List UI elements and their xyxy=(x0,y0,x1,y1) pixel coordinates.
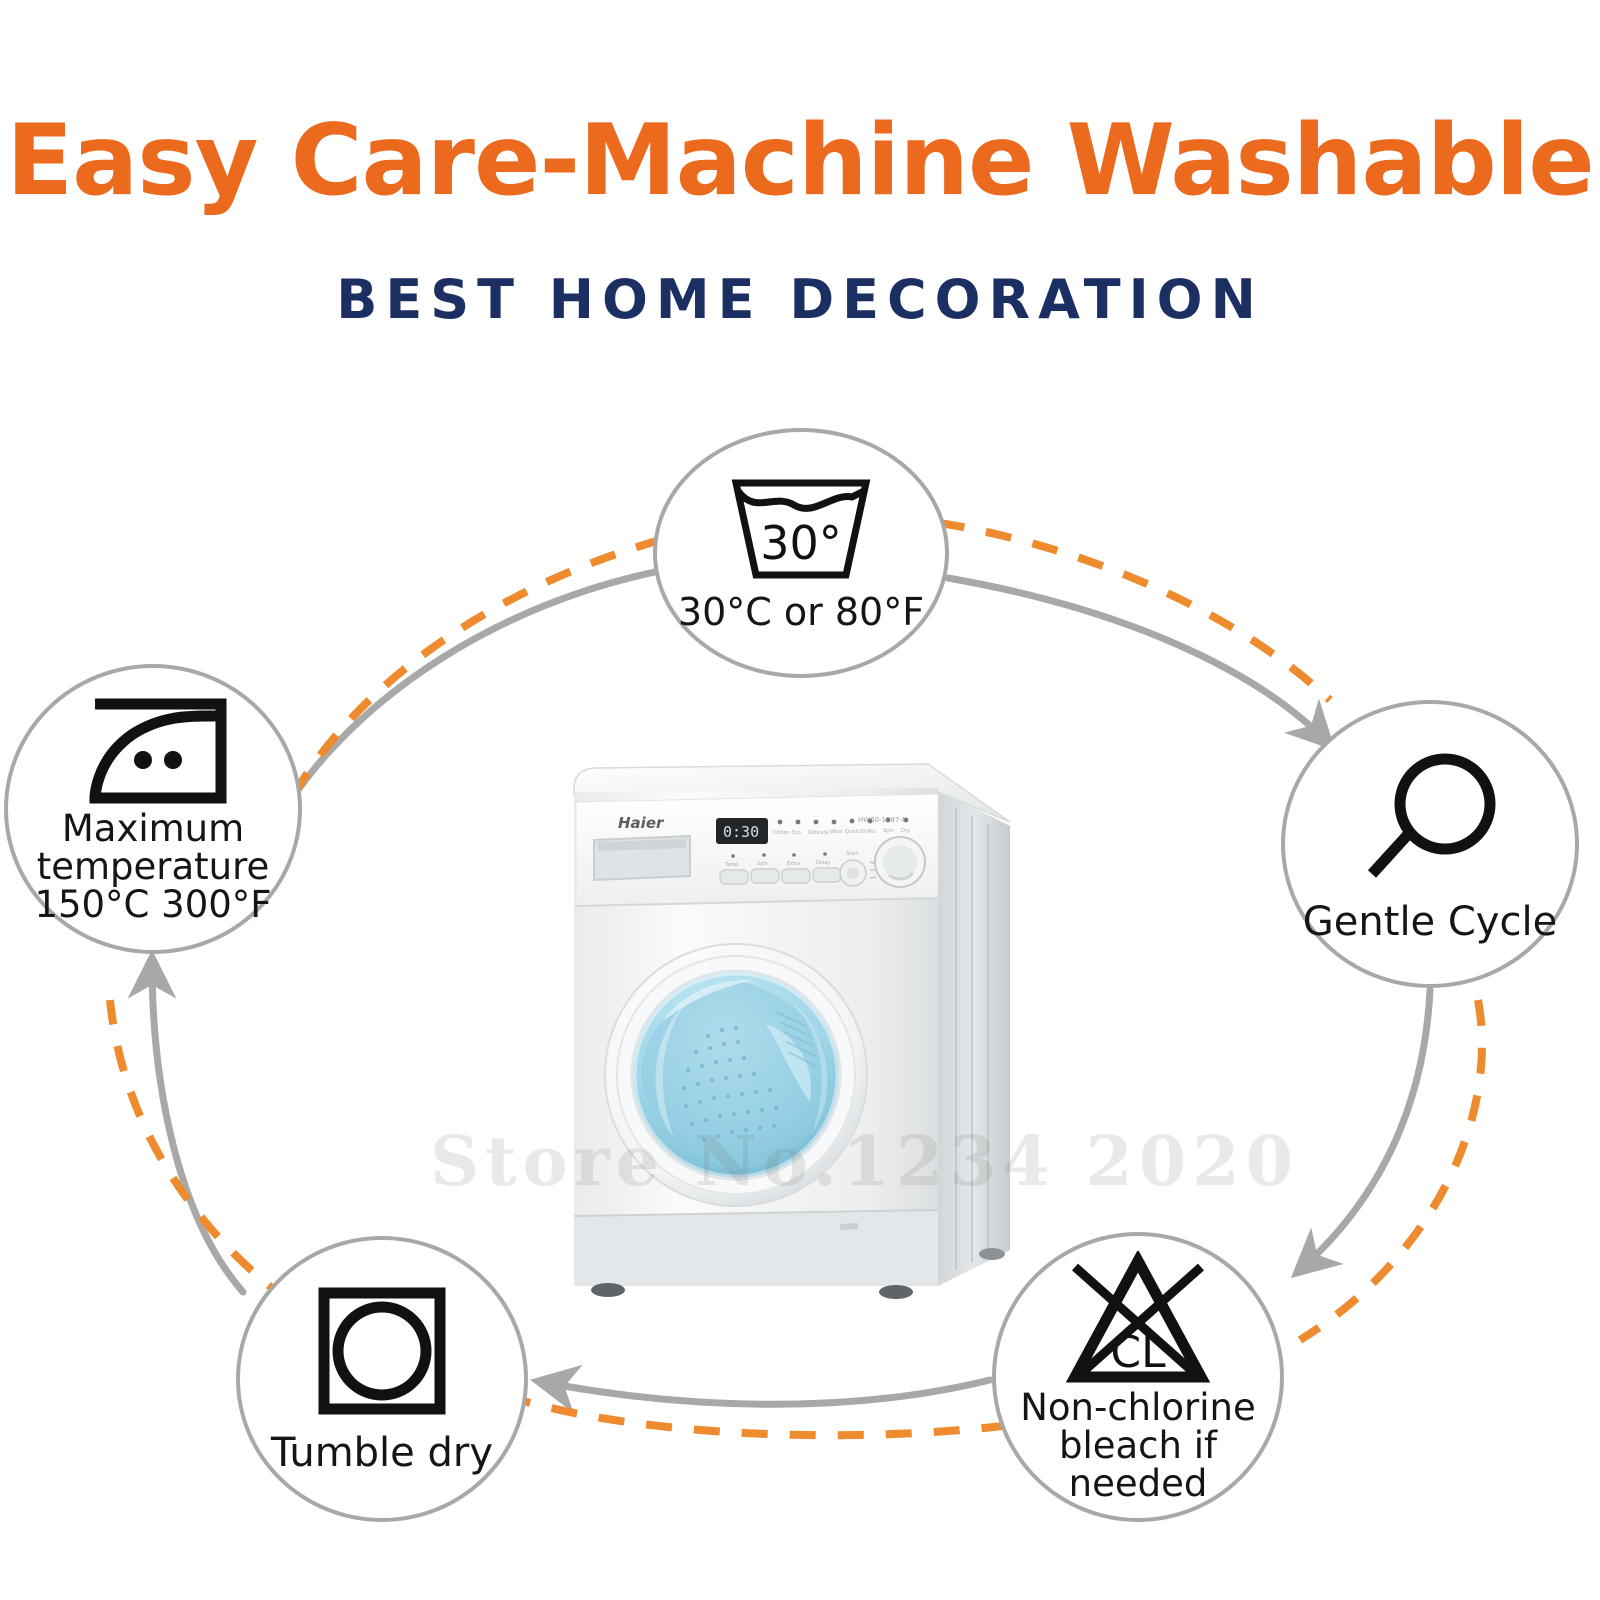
node-non-chlorine-bleach[interactable]: CL Non-chlorine bleach if needed xyxy=(992,1232,1284,1522)
svg-text:Dry: Dry xyxy=(901,828,910,834)
svg-text:Quick30: Quick30 xyxy=(845,829,866,835)
arc-tumble-to-iron xyxy=(152,962,243,1292)
gentle-cycle-icon xyxy=(1350,746,1510,886)
machine-foot-right xyxy=(879,1285,913,1299)
machine-foot-left xyxy=(591,1283,625,1297)
dashed-arc-right-bottom xyxy=(1300,1000,1482,1340)
lcd-value: 0:30 xyxy=(723,823,759,841)
svg-text:Extra: Extra xyxy=(787,861,800,867)
svg-text:Eco: Eco xyxy=(792,830,801,836)
arc-bleach-to-tumble xyxy=(542,1380,990,1404)
svg-text:Spin: Spin xyxy=(757,861,768,867)
svg-text:Spin: Spin xyxy=(883,828,894,834)
wash-temp-symbol-text: 30° xyxy=(760,516,842,570)
node-tumble-dry-label: Tumble dry xyxy=(271,1433,493,1474)
tumble-dry-icon xyxy=(316,1285,448,1417)
model-label: HW60-1287-N xyxy=(858,816,907,824)
node-gentle-cycle-label: Gentle Cycle xyxy=(1303,902,1557,943)
node-wash-temperature[interactable]: 30° 30°C or 80°F xyxy=(653,428,949,678)
node-tumble-dry[interactable]: Tumble dry xyxy=(236,1236,528,1522)
svg-text:Start: Start xyxy=(846,851,858,857)
node-gentle-cycle[interactable]: Gentle Cycle xyxy=(1281,700,1579,988)
arc-gentle-to-bleach xyxy=(1300,990,1430,1270)
svg-text:Delicate: Delicate xyxy=(808,830,829,836)
node-wash-temperature-label: 30°C or 80°F xyxy=(678,593,924,632)
washing-machine-illustration: Haier HW60-1287-N 0:30 CottonEcoDelicate… xyxy=(540,730,1040,1320)
arc-wash-to-gentle xyxy=(948,578,1327,742)
svg-text:Temp.: Temp. xyxy=(724,862,740,868)
iron-two-dots-icon xyxy=(77,694,229,808)
svg-text:Cotton: Cotton xyxy=(773,830,790,836)
machine-plinth xyxy=(574,1210,938,1286)
infographic-canvas: Easy Care-Machine Washable BEST HOME DEC… xyxy=(0,0,1600,1600)
wash-tub-icon: 30° xyxy=(726,475,876,587)
machine-side-panel xyxy=(938,790,1010,1286)
svg-text:Delay: Delay xyxy=(816,860,830,866)
svg-text:Wool: Wool xyxy=(830,829,842,835)
node-iron-temperature-label: Maximum temperature 150°C 300°F xyxy=(34,810,271,923)
node-non-chlorine-bleach-label: Non-chlorine bleach if needed xyxy=(1020,1389,1256,1502)
node-iron-temperature[interactable]: Maximum temperature 150°C 300°F xyxy=(4,664,302,954)
brand-label: Haier xyxy=(618,814,665,832)
svg-text:Mix: Mix xyxy=(867,829,876,835)
program-knob xyxy=(875,837,925,887)
no-chlorine-bleach-icon: CL xyxy=(1065,1251,1211,1387)
